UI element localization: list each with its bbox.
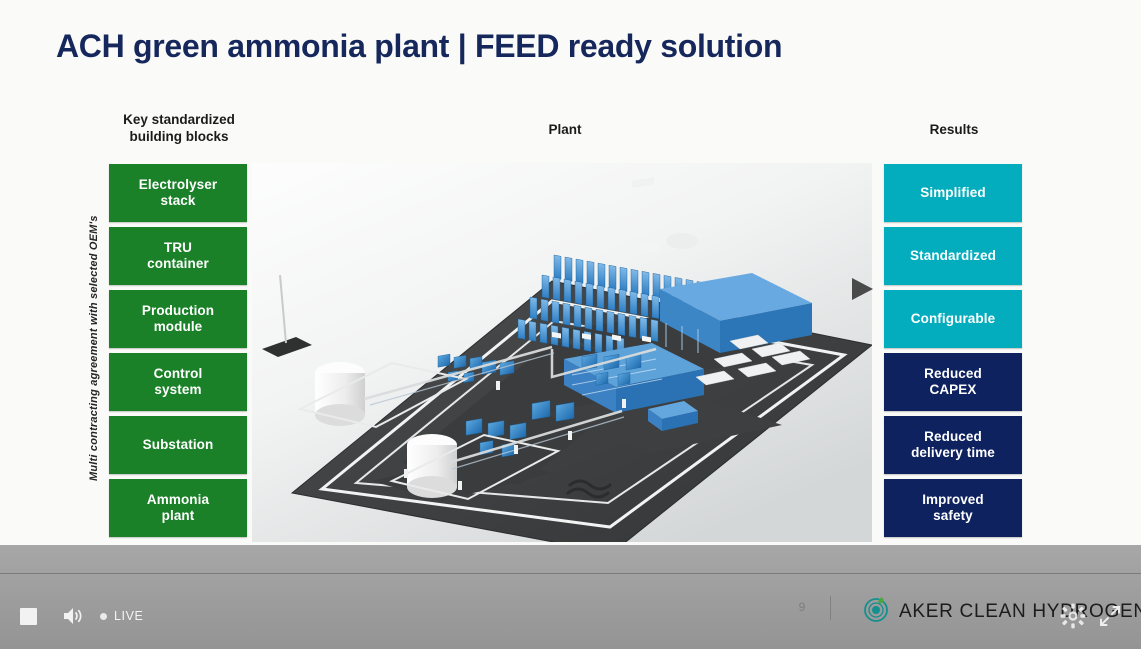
chip-line2: safety [933,508,973,523]
flow-arrow-icon [852,278,873,300]
chip-line1: Improved [922,492,984,507]
chip-line2: delivery time [911,445,995,460]
aker-clean-hydrogen-logo-icon [862,595,890,628]
chip-line1: Control [154,366,203,381]
building-blocks-column: Electrolyser stack TRU container Product… [109,164,247,537]
chip-line1: Reduced [924,429,982,444]
live-dot-icon [100,613,107,620]
player-bar-divider [0,573,1141,574]
column-header-line2: building blocks [104,128,254,145]
chip-line1: Simplified [920,185,986,201]
building-block-chip: Production module [109,290,247,348]
chip-line1: Ammonia [147,492,209,507]
chip-line2: module [154,319,203,334]
chip-line1: Configurable [911,311,995,327]
column-header-building-blocks: Key standardized building blocks [104,111,254,146]
building-block-chip: Substation [109,416,247,474]
page-number: 9 [790,600,814,614]
volume-icon [62,606,84,631]
chip-line1: Reduced [924,366,982,381]
chip-line2: plant [162,508,195,523]
fullscreen-button[interactable] [1098,604,1122,633]
chip-line1: Substation [143,437,214,453]
result-chip: Standardized [884,227,1022,285]
multi-contracting-label: Multi contracting agreement with selecte… [88,221,100,481]
plant-render-panel [252,163,872,542]
column-header-results: Results [880,121,1028,138]
result-chip: Simplified [884,164,1022,222]
results-column: Simplified Standardized Configurable Red… [884,164,1022,537]
chip-line2: CAPEX [929,382,976,397]
chip-line1: Standardized [910,248,996,264]
live-label: LIVE [114,609,144,623]
chip-line2: stack [160,193,195,208]
result-chip: Improved safety [884,479,1022,537]
building-block-chip: Electrolyser stack [109,164,247,222]
plant-site-render-icon [252,163,872,542]
column-header-line1: Key standardized [104,111,254,128]
result-chip: Reduced delivery time [884,416,1022,474]
stop-icon [20,608,37,625]
chip-line2: container [147,256,209,271]
building-block-chip: Ammonia plant [109,479,247,537]
settings-button[interactable] [1060,603,1086,634]
page-title: ACH green ammonia plant | FEED ready sol… [56,28,782,65]
chip-line1: TRU [164,240,192,255]
building-block-chip: Control system [109,353,247,411]
player-separator [830,596,831,620]
result-chip: Configurable [884,290,1022,348]
live-indicator[interactable]: LIVE [100,609,144,623]
chip-line1: Production [142,303,214,318]
result-chip: Reduced CAPEX [884,353,1022,411]
volume-button[interactable] [62,606,84,631]
stop-button[interactable] [20,608,37,625]
fullscreen-expand-icon [1098,615,1122,632]
building-block-chip: TRU container [109,227,247,285]
slide-canvas: ACH green ammonia plant | FEED ready sol… [0,0,1141,545]
gear-icon [1060,616,1086,633]
chip-line2: system [154,382,201,397]
column-header-plant: Plant [490,121,640,138]
chip-line1: Electrolyser [139,177,218,192]
video-player: ACH green ammonia plant | FEED ready sol… [0,0,1141,649]
